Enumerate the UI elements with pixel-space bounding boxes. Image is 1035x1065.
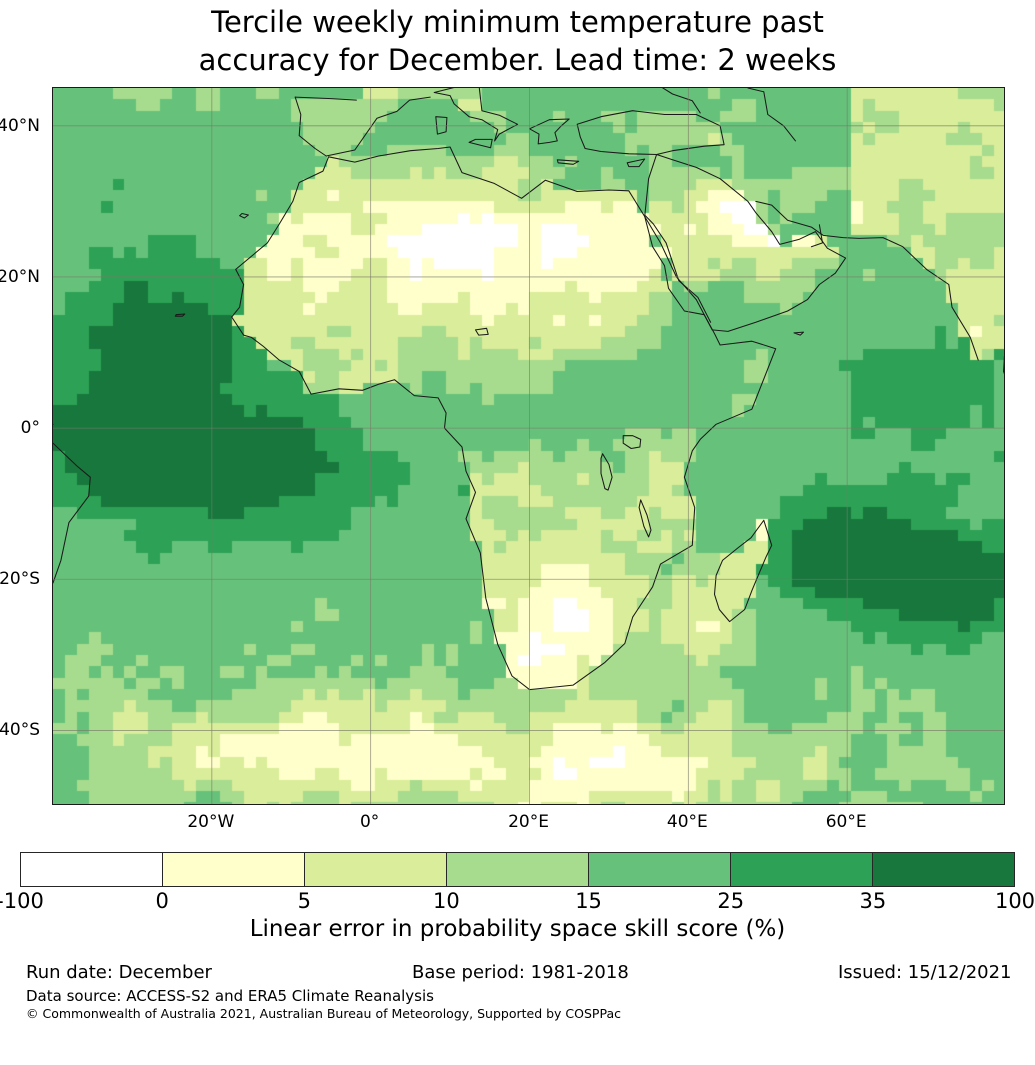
chart-title-line-1: Tercile weekly minimum temperature past <box>0 3 1035 41</box>
footer-issued-date: Issued: 15/12/2021 <box>838 962 1012 983</box>
y-tick-label: 20°S <box>0 569 46 589</box>
chart-title-line-2: accuracy for December. Lead time: 2 week… <box>0 41 1035 79</box>
colorbar-bands <box>20 852 1015 887</box>
colorbar-band <box>872 853 1014 886</box>
colorbar-tick-label: -100 <box>0 889 44 913</box>
y-tick-label: 40°S <box>0 720 46 740</box>
colorbar-band <box>162 853 304 886</box>
colorbar-band <box>304 853 446 886</box>
footer-copyright: © Commonwealth of Australia 2021, Austra… <box>26 1006 621 1021</box>
graticule-gridlines <box>53 88 1005 805</box>
colorbar-band <box>21 853 162 886</box>
footer-data-source: Data source: ACCESS-S2 and ERA5 Climate … <box>26 987 434 1005</box>
colorbar-band <box>588 853 730 886</box>
footer-base-period: Base period: 1981-2018 <box>412 962 629 983</box>
map-plot-area <box>52 87 1005 805</box>
colorbar-tick-label: 35 <box>859 889 886 913</box>
x-tick-label: 40°E <box>667 812 708 832</box>
x-tick-label: 60°E <box>826 812 867 832</box>
x-tick-label: 0° <box>360 812 379 832</box>
y-tick-label: 0° <box>0 418 46 438</box>
colorbar-band <box>446 853 588 886</box>
colorbar <box>20 852 1015 887</box>
colorbar-tick-label: 100 <box>995 889 1035 913</box>
x-tick-label: 20°W <box>187 812 234 832</box>
colorbar-label: Linear error in probability space skill … <box>0 916 1035 942</box>
x-tick-label: 20°E <box>508 812 549 832</box>
colorbar-tick-label: 25 <box>717 889 744 913</box>
y-tick-label: 40°N <box>0 116 46 136</box>
colorbar-band <box>730 853 872 886</box>
colorbar-tick-label: 0 <box>155 889 168 913</box>
colorbar-tick-label: 15 <box>575 889 602 913</box>
chart-title: Tercile weekly minimum temperature past … <box>0 0 1035 79</box>
colorbar-tick-label: 5 <box>298 889 311 913</box>
y-tick-label: 20°N <box>0 267 46 287</box>
colorbar-tick-label: 10 <box>433 889 460 913</box>
footer-run-date: Run date: December <box>26 962 212 983</box>
